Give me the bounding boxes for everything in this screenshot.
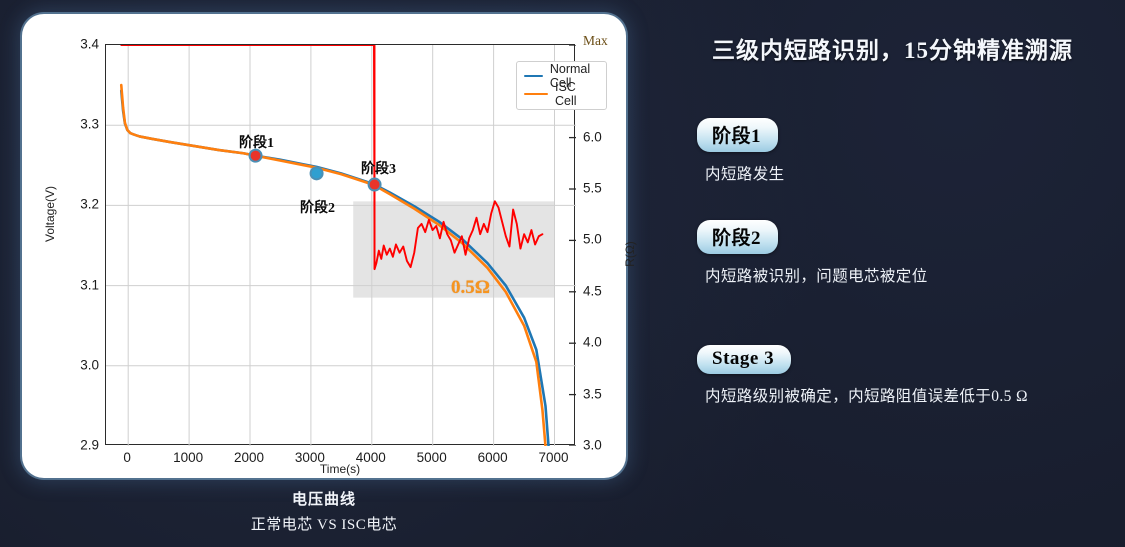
x-tick: 1000: [173, 450, 203, 465]
stage-block-1: 阶段1 内短路发生: [697, 118, 785, 184]
stage-description-3: 内短路级别被确定，内短路阻值误差低于0.5 Ω: [705, 384, 1028, 406]
x-tick: 0: [123, 450, 131, 465]
y2-tick: 4.0: [583, 335, 602, 350]
panel-headline: 三级内短路识别，15分钟精准溯源: [712, 31, 1073, 65]
legend-label-isc-cell: ISC Cell: [555, 80, 597, 108]
chart-card: Voltage(V) R(Ω) Time(s) 2.9 3.0 3.1 3.2 …: [22, 14, 626, 478]
y-tick: 3.0: [80, 357, 99, 372]
x-tick: 6000: [478, 450, 508, 465]
caption-line-2: 正常电芯 VS ISC电芯: [251, 513, 398, 534]
plot-area: Normal Cell ISC Cell 阶段1 阶段2 阶段3 0.5Ω: [105, 44, 575, 445]
info-panel: 三级内短路识别，15分钟精准溯源 阶段1 内短路发生 阶段2 内短路被识别，问题…: [690, 0, 1125, 547]
y-tick: 3.4: [80, 37, 99, 52]
annotation-stage2: 阶段2: [300, 197, 335, 217]
legend-swatch-isc-cell: [524, 93, 548, 96]
stage-marker: [369, 179, 381, 191]
stage-description-1: 内短路发生: [705, 162, 785, 184]
annotation-stage1: 阶段1: [239, 132, 274, 152]
y2-tick: 6.0: [583, 129, 602, 144]
y2-tick: 3.5: [583, 386, 602, 401]
stage-badge-1: 阶段1: [697, 118, 778, 152]
y2-tick: 5.5: [583, 181, 602, 196]
stage-block-3: Stage 3 内短路级别被确定，内短路阻值误差低于0.5 Ω: [697, 345, 1028, 406]
stage-block-2: 阶段2 内短路被识别，问题电芯被定位: [697, 220, 928, 286]
y-tick: 3.2: [80, 197, 99, 212]
stage-description-2: 内短路被识别，问题电芯被定位: [705, 264, 928, 286]
x-axis-ticks: 0 1000 2000 3000 4000 5000 6000 7000: [105, 450, 575, 470]
stage-badge-3: Stage 3: [697, 345, 791, 374]
caption-line-1: 电压曲线: [251, 488, 398, 509]
y-tick: 2.9: [80, 438, 99, 453]
y2-tick-max: Max: [583, 33, 608, 49]
chart-caption: 电压曲线 正常电芯 VS ISC电芯: [251, 488, 398, 534]
legend-item-isc-cell: ISC Cell: [524, 85, 597, 103]
x-tick: 4000: [356, 450, 386, 465]
x-tick: 3000: [295, 450, 325, 465]
y-tick: 3.3: [80, 117, 99, 132]
annotation-resistance-value: 0.5Ω: [451, 277, 490, 299]
y2-tick: 5.0: [583, 232, 602, 247]
y-axis-ticks: 2.9 3.0 3.1 3.2 3.3 3.4: [67, 44, 99, 445]
stage-badge-2: 阶段2: [697, 220, 778, 254]
chart-svg: [106, 45, 576, 446]
y-tick: 3.1: [80, 277, 99, 292]
annotation-stage3: 阶段3: [361, 158, 396, 178]
stage-marker: [311, 167, 323, 179]
legend-swatch-normal-cell: [524, 75, 543, 78]
x-tick: 7000: [538, 450, 568, 465]
x-tick: 5000: [417, 450, 447, 465]
x-tick: 2000: [234, 450, 264, 465]
y2-tick: 3.0: [583, 438, 602, 453]
chart-legend: Normal Cell ISC Cell: [516, 61, 607, 110]
y-axis-label: Voltage(V): [43, 186, 57, 242]
y2-tick: 4.5: [583, 283, 602, 298]
